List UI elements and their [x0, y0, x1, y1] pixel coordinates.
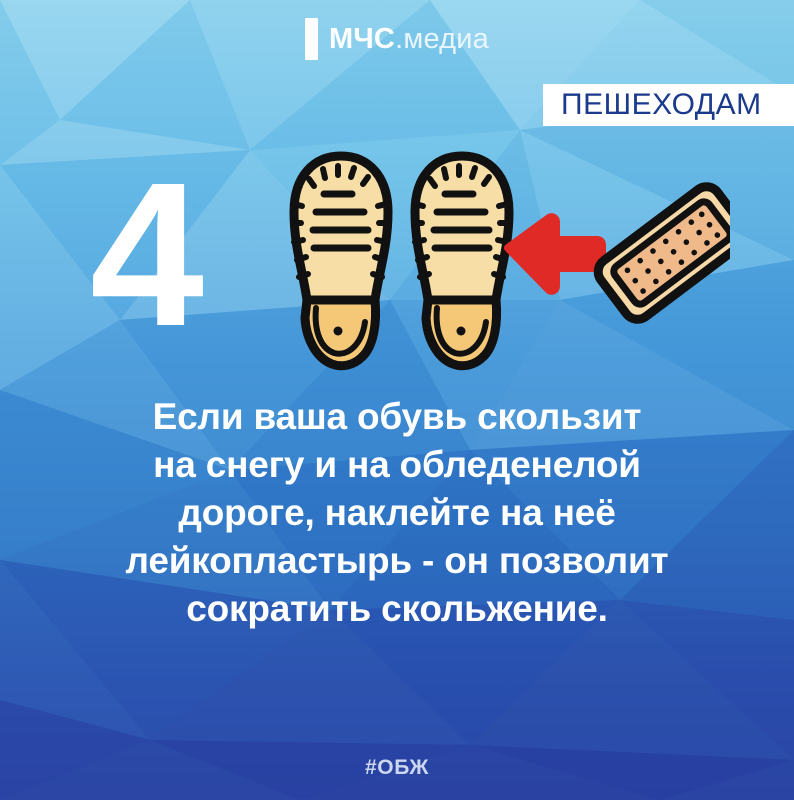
illustration-group [280, 150, 730, 380]
poster-canvas: МЧС.медиа ПЕШЕХОДАМ 4 [0, 0, 794, 800]
logo-name-light: .медиа [395, 23, 489, 55]
category-badge-label: ПЕШЕХОДАМ [561, 90, 762, 120]
arrow-left-icon [508, 217, 602, 291]
message-line: дороге, наклейте на неё [47, 489, 747, 537]
message-line: лейкопластырь - он позволит [47, 537, 747, 585]
step-number: 4 [60, 152, 230, 357]
brand-logo[interactable]: МЧС.медиа [0, 18, 794, 60]
category-badge: ПЕШЕХОДАМ [543, 84, 794, 126]
vertical-bar-icon [305, 18, 318, 60]
shoe-sole-left [293, 156, 388, 366]
footer-hashtag[interactable]: #ОБЖ [0, 757, 794, 778]
message-line: сократить скольжение. [47, 585, 747, 633]
message-line: на снегу и на обледенелой [47, 441, 747, 489]
main-message: Если ваша обувь скользит на снегу и на о… [47, 393, 747, 633]
logo-name-strong: МЧС [329, 23, 395, 55]
message-line: Если ваша обувь скользит [47, 393, 747, 441]
logo-text: МЧС.медиа [329, 25, 489, 54]
shoe-sole-right [414, 156, 509, 366]
adhesive-bandage-icon [593, 181, 730, 325]
